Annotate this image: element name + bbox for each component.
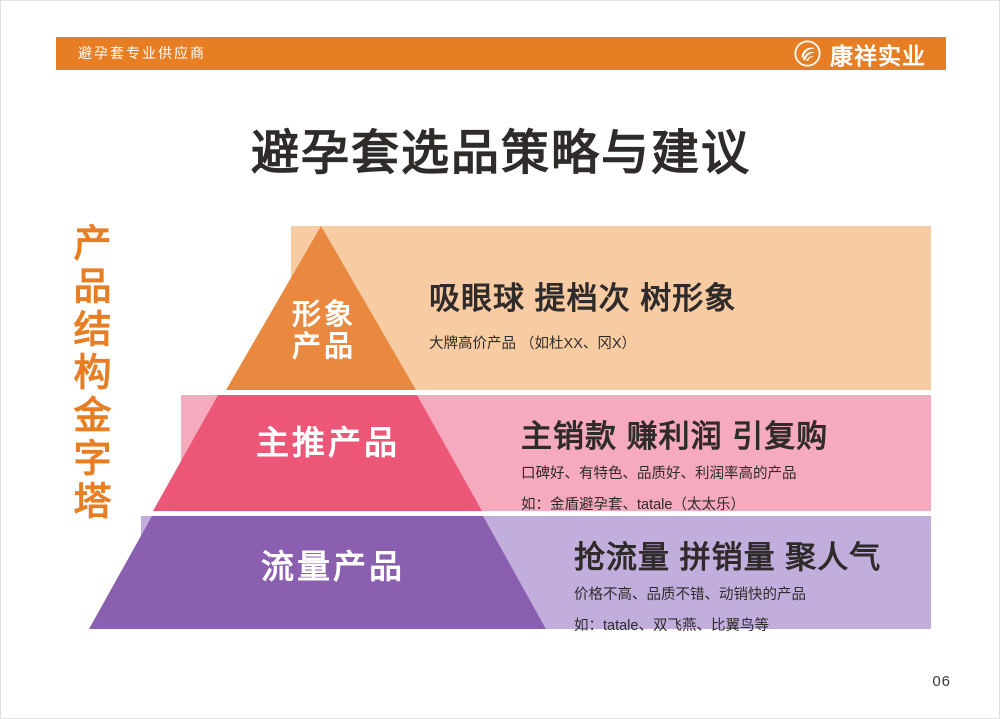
tier-description-main-push-products-line1: 口碑好、有特色、品质好、利润率高的产品 bbox=[521, 462, 828, 487]
tier-description-main-push-products-line2: 如：金盾避孕套、tatale（太太乐） bbox=[521, 493, 828, 518]
tier-body-main-push-products: 主销款 赚利润 引复购 口碑好、有特色、品质好、利润率高的产品 如：金盾避孕套、… bbox=[521, 411, 828, 519]
tier-label-image-products: 形象 产品 bbox=[269, 299, 379, 364]
tier-body-traffic-products: 抢流量 拼销量 聚人气 价格不高、品质不错、动销快的产品 如：tatale、双飞… bbox=[574, 532, 881, 640]
tier-label-traffic-products: 流量产品 bbox=[238, 549, 428, 586]
tier-headline-image-products: 吸眼球 提档次 树形象 bbox=[429, 273, 736, 318]
tier-headline-main-push-products: 主销款 赚利润 引复购 bbox=[521, 411, 828, 456]
tier-body-image-products: 吸眼球 提档次 树形象 大牌高价产品 （如杜XX、冈X） bbox=[429, 273, 736, 357]
tier-description-traffic-products-line1: 价格不高、品质不错、动销快的产品 bbox=[574, 583, 881, 608]
product-structure-pyramid: 形象 产品 吸眼球 提档次 树形象 大牌高价产品 （如杜XX、冈X） 主推产品 … bbox=[1, 1, 1000, 719]
tier-label-main-push-products: 主推产品 bbox=[233, 425, 423, 462]
tier-label-image-products-line1: 形象 bbox=[269, 299, 379, 331]
tier-description-traffic-products-line2: 如：tatale、双飞燕、比翼鸟等 bbox=[574, 614, 881, 639]
page-number: 06 bbox=[932, 673, 951, 690]
tier-headline-traffic-products: 抢流量 拼销量 聚人气 bbox=[574, 532, 881, 577]
slide: 避孕套专业供应商 康祥实业 避孕套选品策略与建议 产品结构金字塔 bbox=[0, 0, 1000, 719]
tier-label-image-products-line2: 产品 bbox=[269, 331, 379, 363]
tier-description-image-products: 大牌高价产品 （如杜XX、冈X） bbox=[429, 332, 736, 357]
